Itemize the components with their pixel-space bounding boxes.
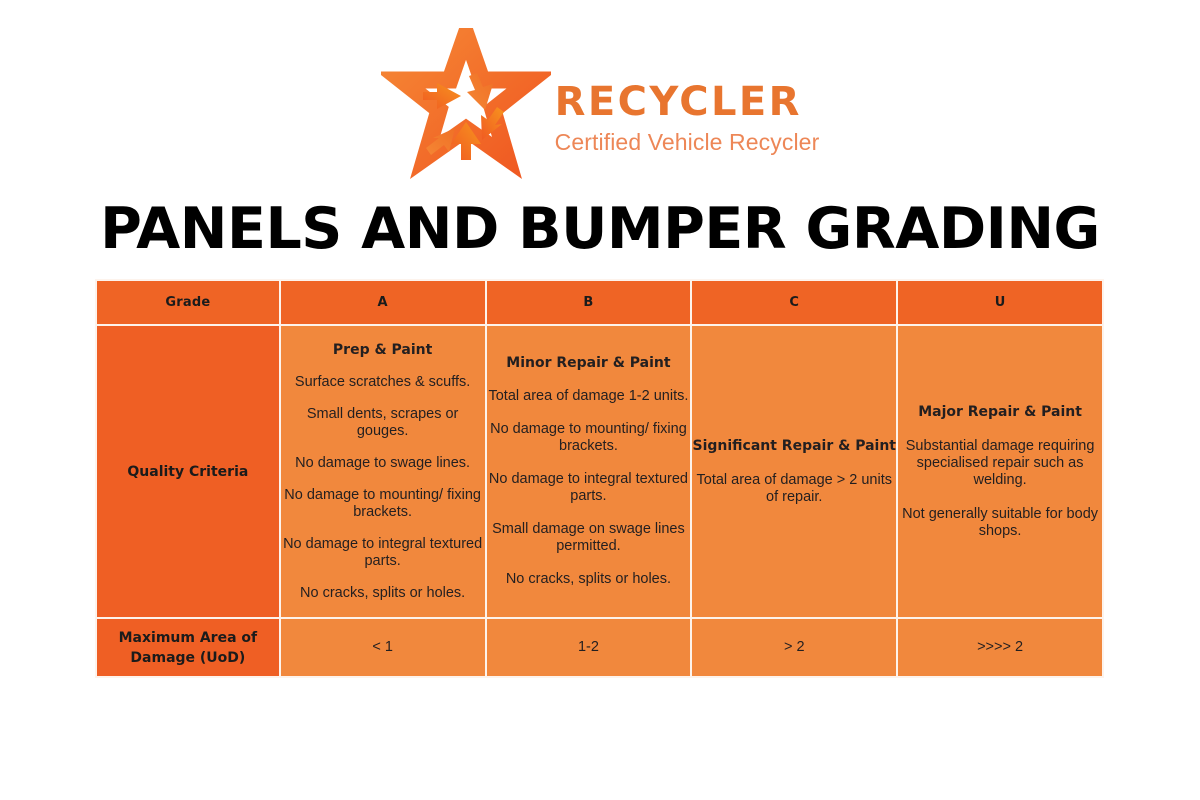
- cell-b-line-3: No damage to integral textured parts.: [487, 471, 691, 505]
- cell-u-heading: Major Repair & Paint: [898, 404, 1102, 421]
- table-row-quality-criteria: Quality Criteria Prep & Paint Surface sc…: [97, 326, 1102, 617]
- recycling-star-icon: [381, 28, 551, 180]
- cell-quality-criteria-a: Prep & Paint Surface scratches & scuffs.…: [281, 326, 485, 617]
- panels-bumper-grading-table: Grade A B C U Quality Criteria Prep & Pa…: [95, 279, 1104, 678]
- cell-b-line-2: No damage to mounting/ fixing brackets.: [487, 421, 691, 455]
- cell-b-line-4: Small damage on swage lines permitted.: [487, 521, 691, 555]
- cell-max-area-b: 1-2: [487, 619, 691, 676]
- header-cell-grade-a: A: [281, 281, 485, 324]
- cell-c-heading: Significant Repair & Paint: [692, 438, 896, 455]
- cell-content-u: Major Repair & Paint Substantial damage …: [898, 404, 1102, 540]
- cell-quality-criteria-u: Major Repair & Paint Substantial damage …: [898, 326, 1102, 617]
- row-label-quality-criteria: Quality Criteria: [97, 326, 279, 617]
- cell-content-c: Significant Repair & Paint Total area of…: [692, 438, 896, 506]
- cell-a-line-1: Surface scratches & scuffs.: [281, 374, 485, 391]
- cell-c-line-1: Total area of damage > 2 units of repair…: [692, 472, 896, 506]
- page-root: RECYCLER Certified Vehicle Recycler PANE…: [0, 0, 1200, 800]
- cell-content-a: Prep & Paint Surface scratches & scuffs.…: [281, 342, 485, 602]
- logo-tagline: Certified Vehicle Recycler: [555, 129, 820, 156]
- header-cell-grade-b: B: [487, 281, 691, 324]
- cell-a-line-3: No damage to swage lines.: [281, 455, 485, 472]
- cell-b-line-1: Total area of damage 1-2 units.: [487, 388, 691, 405]
- table-row-maximum-area-of-damage: Maximum Area of Damage (UoD) < 1 1-2 > 2…: [97, 619, 1102, 676]
- row-label-maximum-area-of-damage: Maximum Area of Damage (UoD): [97, 619, 279, 676]
- cell-a-line-6: No cracks, splits or holes.: [281, 585, 485, 602]
- logo-wordmark: RECYCLER: [555, 81, 802, 123]
- header-cell-grade-u: U: [898, 281, 1102, 324]
- cell-a-line-5: No damage to integral textured parts.: [281, 536, 485, 570]
- logo-inner: RECYCLER Certified Vehicle Recycler: [381, 28, 820, 180]
- cell-b-heading: Minor Repair & Paint: [487, 355, 691, 372]
- header-cell-grade-c: C: [692, 281, 896, 324]
- cell-max-area-a: < 1: [281, 619, 485, 676]
- logo-text-group: RECYCLER Certified Vehicle Recycler: [555, 53, 820, 156]
- cell-content-b: Minor Repair & Paint Total area of damag…: [487, 355, 691, 588]
- cell-b-line-5: No cracks, splits or holes.: [487, 571, 691, 588]
- cell-quality-criteria-c: Significant Repair & Paint Total area of…: [692, 326, 896, 617]
- cell-max-area-u: >>>> 2: [898, 619, 1102, 676]
- header-cell-grade: Grade: [97, 281, 279, 324]
- table-header-row: Grade A B C U: [97, 281, 1102, 324]
- cell-a-line-2: Small dents, scrapes or gouges.: [281, 406, 485, 440]
- cell-u-line-2: Not generally suitable for body shops.: [898, 506, 1102, 540]
- cell-a-line-4: No damage to mounting/ fixing brackets.: [281, 487, 485, 521]
- page-title: PANELS AND BUMPER GRADING: [0, 193, 1200, 265]
- brand-logo: RECYCLER Certified Vehicle Recycler: [0, 28, 1200, 180]
- cell-max-area-c: > 2: [692, 619, 896, 676]
- cell-u-line-1: Substantial damage requiring specialised…: [898, 438, 1102, 489]
- cell-quality-criteria-b: Minor Repair & Paint Total area of damag…: [487, 326, 691, 617]
- cell-a-heading: Prep & Paint: [281, 342, 485, 359]
